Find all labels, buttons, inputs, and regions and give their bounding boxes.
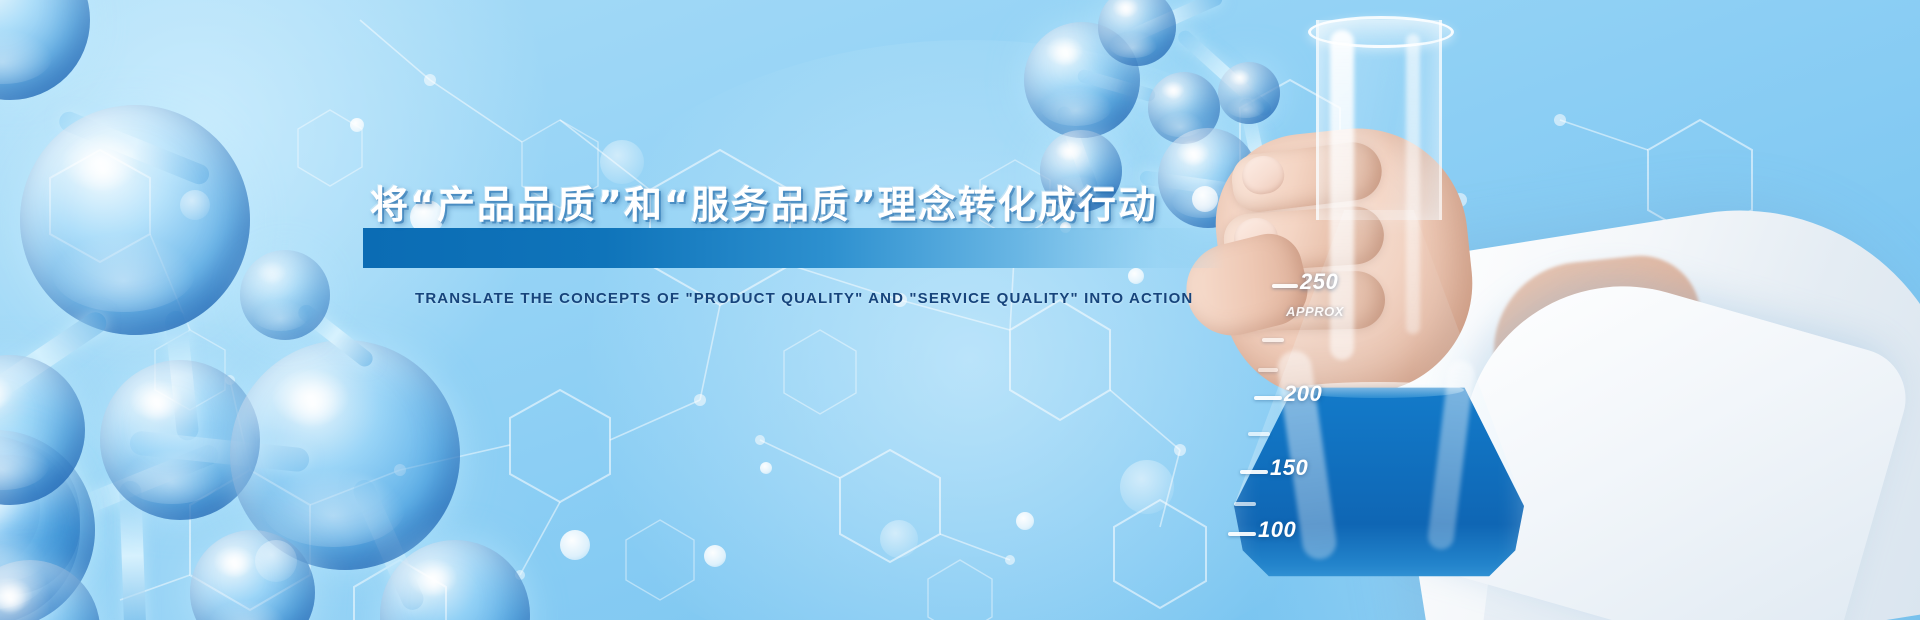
molecule-sphere — [20, 105, 250, 335]
page-subtitle: TRANSLATE THE CONCEPTS OF "PRODUCT QUALI… — [415, 290, 1193, 307]
hero-banner: 250 APPROX 200 150 100 将“产品品质”和“服务品质”理念转… — [0, 0, 1920, 620]
grad-label-200: 200 — [1284, 381, 1322, 407]
grad-label-approx: APPROX — [1286, 304, 1344, 319]
erlenmeyer-flask: 250 APPROX 200 150 100 — [1230, 20, 1550, 600]
grad-label-100: 100 — [1258, 517, 1296, 543]
grad-label-150: 150 — [1270, 455, 1308, 481]
molecule-sphere — [0, 0, 90, 100]
scientist-hand-flask-photo: 250 APPROX 200 150 100 — [1160, 0, 1920, 620]
molecule-sphere — [240, 250, 330, 340]
title-highlight-bar — [363, 228, 1225, 268]
flask-graduation-scale: 250 APPROX 200 150 100 — [1230, 280, 1390, 570]
grad-label-250: 250 — [1300, 269, 1338, 295]
page-title: 将“产品品质”和“服务品质”理念转化成行动 — [370, 186, 1270, 224]
